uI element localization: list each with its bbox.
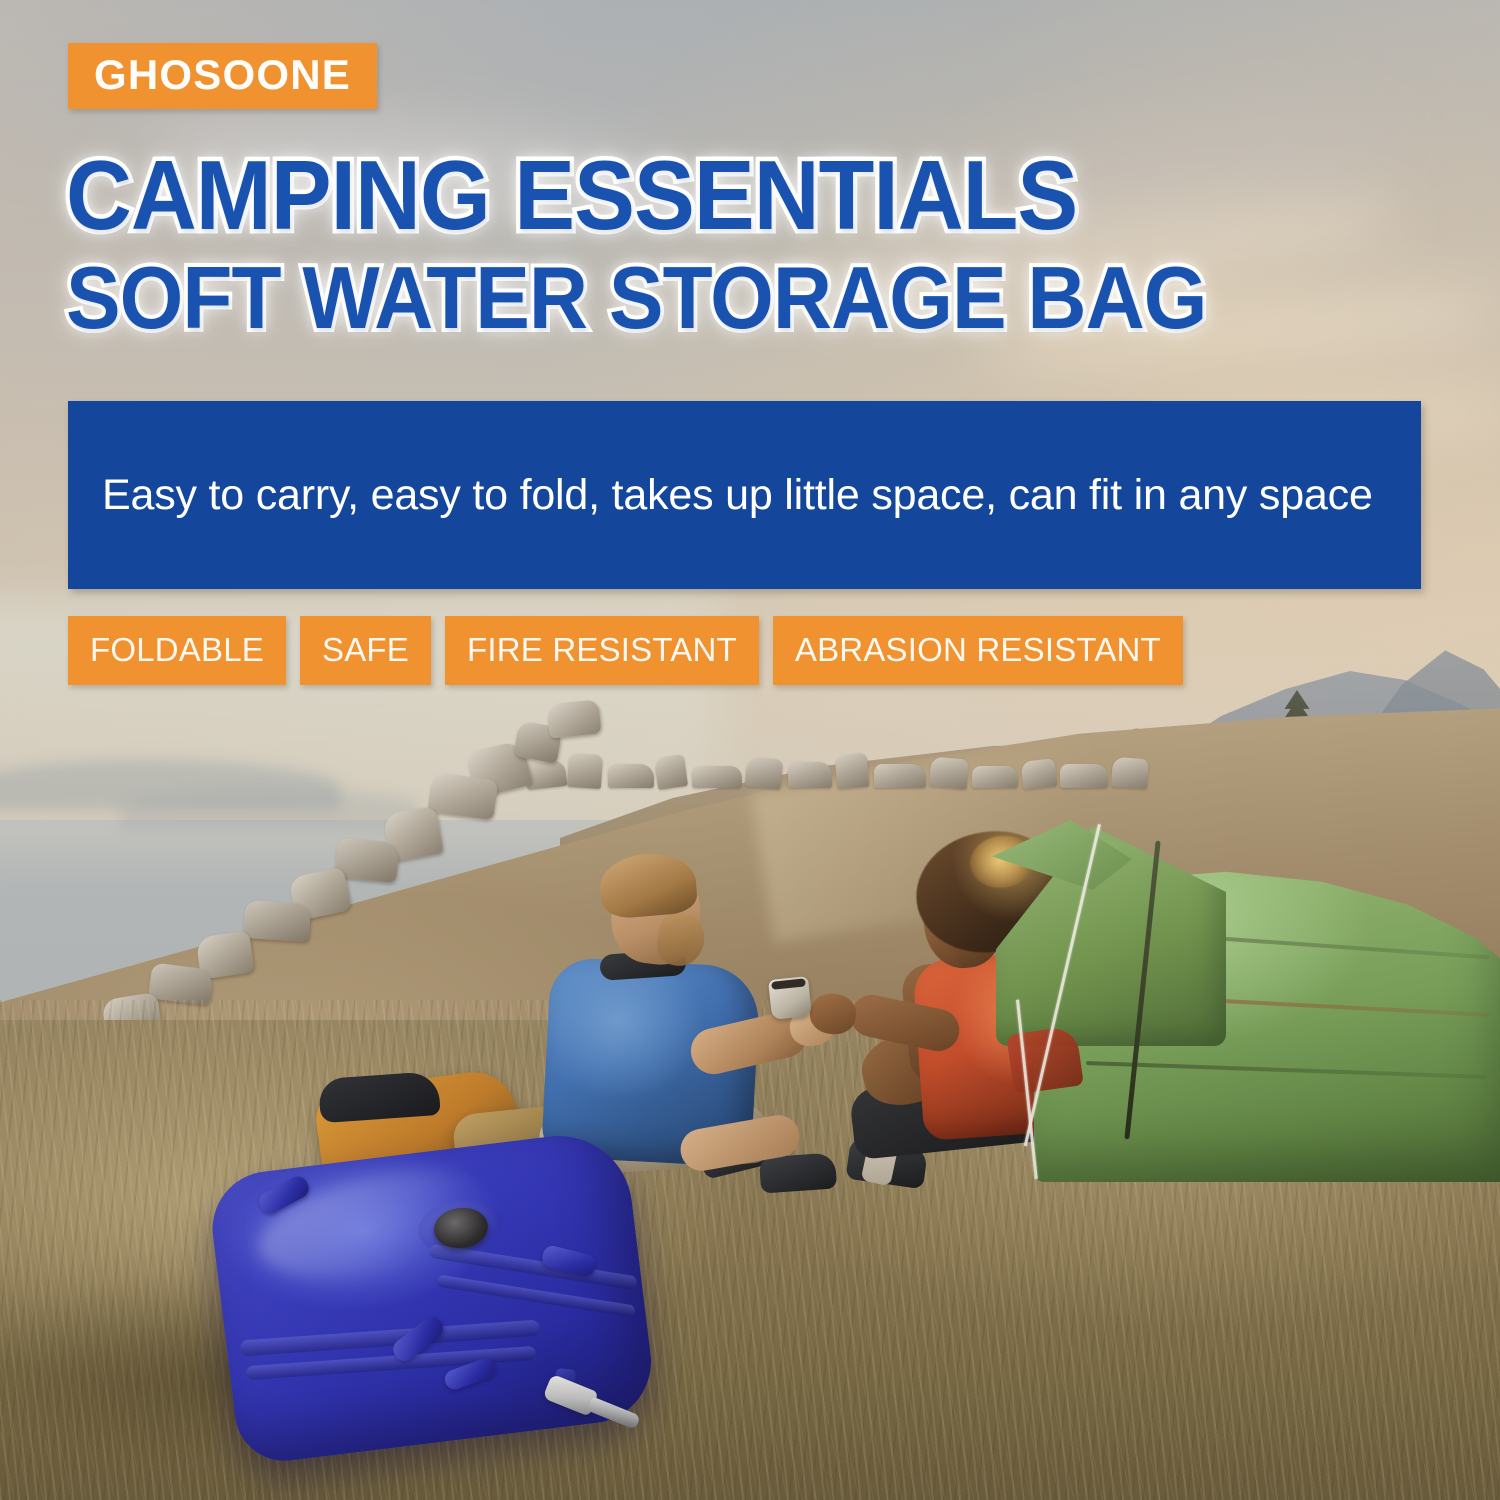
feature-tag: SAFE: [300, 616, 431, 685]
brand-badge: GHOSOONE: [68, 43, 377, 109]
headline-block: CAMPING ESSENTIALS SOFT WATER STORAGE BA…: [66, 148, 1446, 341]
description-text: Easy to carry, easy to fold, takes up li…: [68, 467, 1407, 524]
feature-tags-row: FOLDABLESAFEFIRE RESISTANTABRASION RESIS…: [68, 616, 1183, 685]
headline-line-2: SOFT WATER STORAGE BAG: [66, 256, 1349, 340]
feature-tag: FIRE RESISTANT: [445, 616, 759, 685]
feature-tag: ABRASION RESISTANT: [773, 616, 1183, 685]
feature-tag: FOLDABLE: [68, 616, 286, 685]
product-marketing-poster: GHOSOONE CAMPING ESSENTIALS SOFT WATER S…: [0, 0, 1500, 1500]
description-banner: Easy to carry, easy to fold, takes up li…: [68, 401, 1421, 589]
headline-line-1: CAMPING ESSENTIALS: [66, 148, 1349, 242]
text-overlay: GHOSOONE CAMPING ESSENTIALS SOFT WATER S…: [0, 0, 1500, 1500]
